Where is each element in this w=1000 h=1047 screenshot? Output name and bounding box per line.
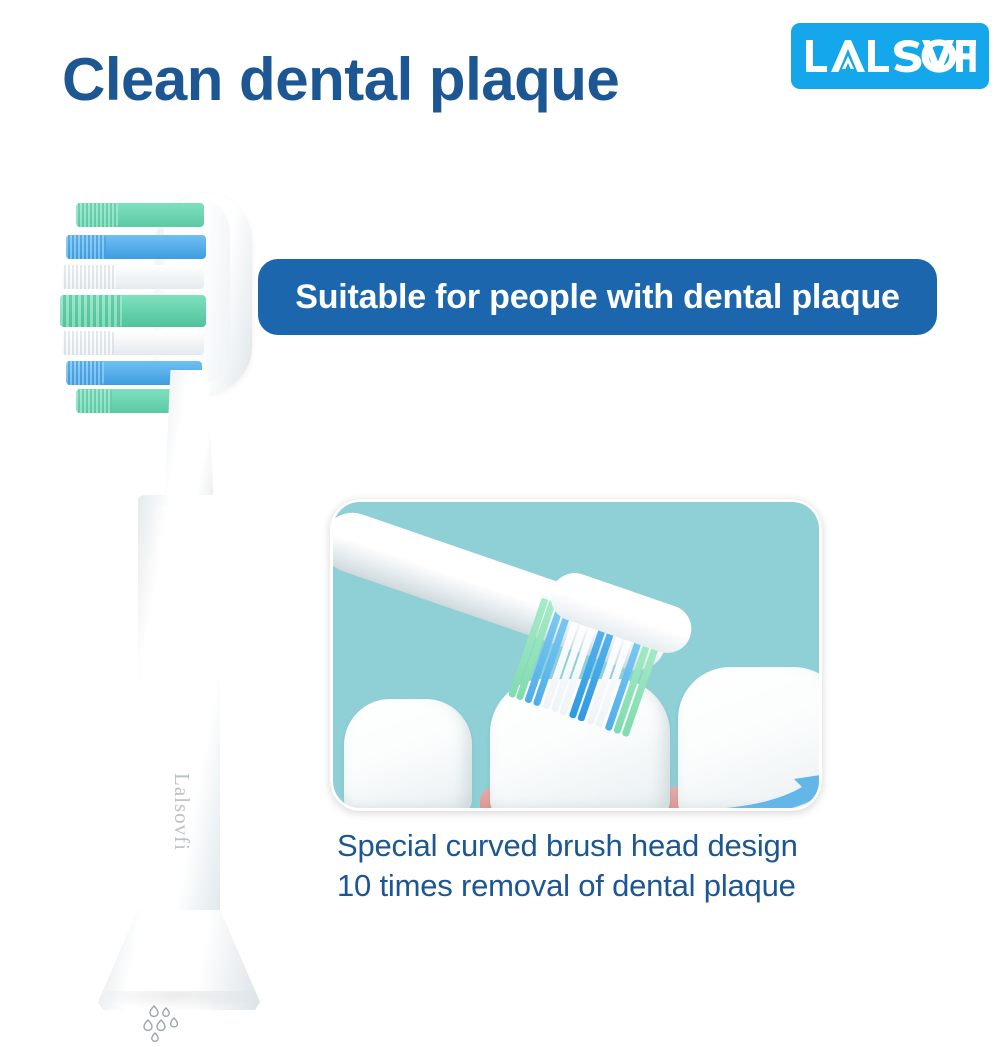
bristle-tuft-texture: [62, 331, 114, 355]
suitability-banner: Suitable for people with dental plaque: [258, 259, 937, 335]
bristle-tuft-texture: [76, 389, 112, 413]
marketing-image-canvas: Clean dental plaque Suitable for people …: [0, 0, 1000, 1000]
feature-caption-line-1: Special curved brush head design: [337, 826, 798, 866]
suitability-banner-text: Suitable for people with dental plaque: [295, 278, 899, 317]
handle-brand-text: Lalsovfi: [164, 752, 194, 872]
brushing-demo-photo: [330, 499, 822, 811]
lalsovfi-logotype-icon: [804, 36, 976, 76]
brushing-direction-arrow-icon: [682, 757, 822, 811]
page-title: Clean dental plaque: [62, 48, 619, 111]
toothbrush-head-product-photo: Lalsovfi: [40, 165, 270, 925]
bristle-tuft-texture: [76, 203, 118, 227]
bristle-tuft-texture: [60, 295, 122, 327]
feature-caption: Special curved brush head design 10 time…: [337, 826, 798, 905]
bristle-tuft-texture: [66, 361, 104, 385]
feature-caption-line-2: 10 times removal of dental plaque: [337, 866, 798, 906]
bristle-tuft-texture: [66, 235, 106, 259]
tooth-left: [344, 699, 472, 811]
water-droplet-pattern-icon: [140, 1003, 186, 1047]
brand-logo: [791, 23, 989, 89]
bristle-tuft-texture: [62, 265, 116, 289]
